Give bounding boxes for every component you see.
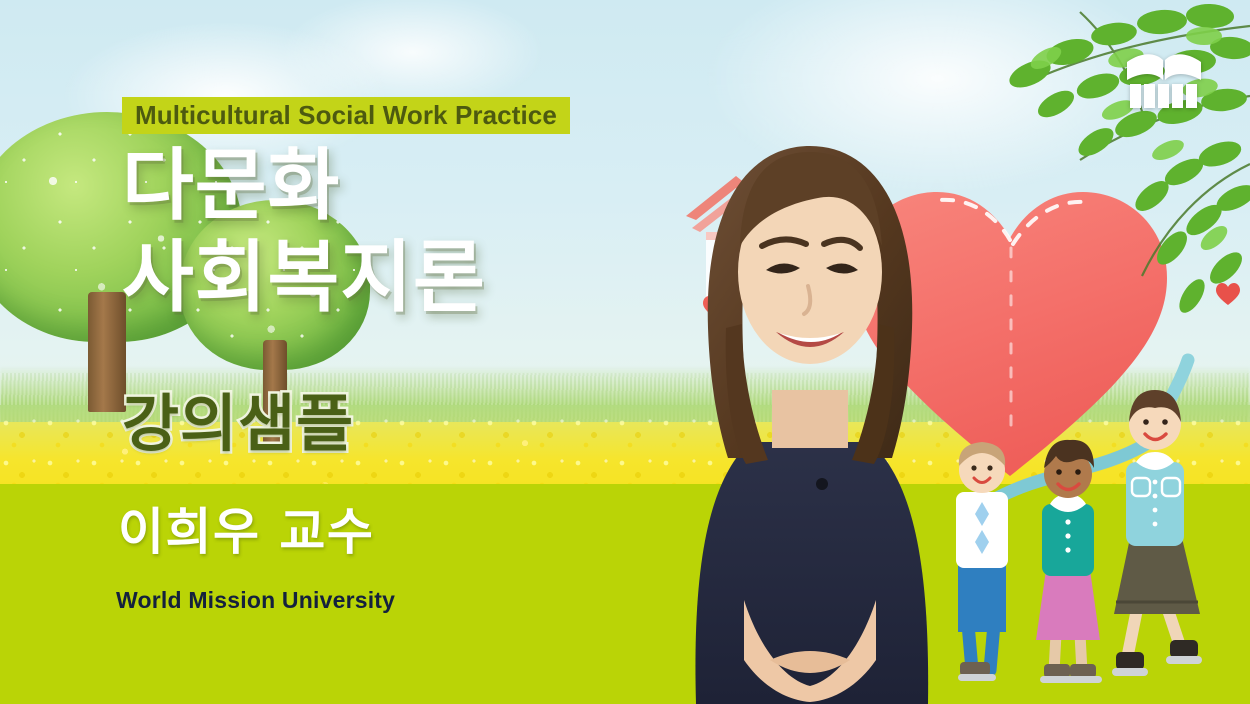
page-title: 다문화 사회복지론 — [122, 148, 486, 317]
instructor-name: 이희우 교수 — [118, 507, 374, 557]
institution-name: World Mission University — [116, 587, 395, 614]
lecture-sample-label: 강의샘플 — [122, 393, 354, 455]
text-overlay: Multicultural Social Work Practice 다문화 사… — [0, 0, 1250, 704]
subtitle-banner: Multicultural Social Work Practice — [122, 97, 570, 134]
title-line-1: 다문화 — [122, 148, 486, 224]
title-line-2: 사회복지론 — [122, 240, 486, 316]
lecture-title-slide: Multicultural Social Work Practice 다문화 사… — [0, 0, 1250, 704]
subtitle-english-label: Multicultural Social Work Practice — [135, 100, 557, 131]
